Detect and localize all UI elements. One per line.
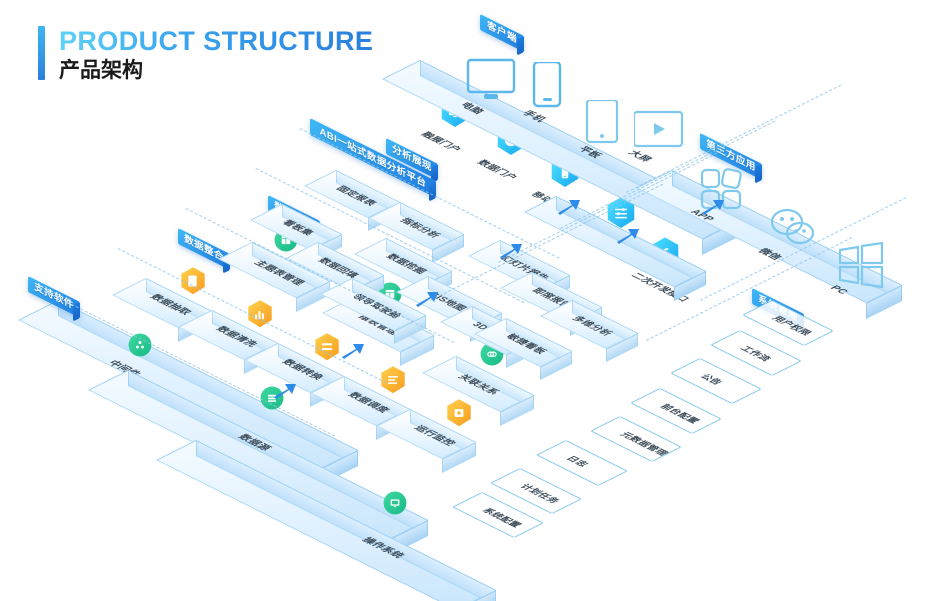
badge-data-integration-text: 数据整合 (178, 228, 230, 270)
label-融展门户: 融展门户 (418, 130, 465, 154)
monitor-run-icon[interactable] (444, 398, 474, 428)
flow-arrow-icon (556, 196, 582, 223)
tablet-icon[interactable] (584, 100, 624, 151)
badge-client-text: 客户端 (480, 14, 524, 52)
os-icon[interactable] (382, 490, 408, 516)
label-数据门户: 数据门户 (474, 158, 521, 182)
flow-arrow-icon (272, 380, 298, 407)
bigscreen-icon[interactable] (634, 108, 684, 155)
middleware-icon[interactable] (127, 332, 153, 358)
monitor-icon[interactable] (466, 58, 516, 107)
flow-arrow-icon (700, 196, 726, 223)
flow-arrow-icon (615, 225, 641, 252)
phone-icon[interactable] (528, 62, 568, 115)
flow-arrow-icon (340, 340, 366, 367)
flow-arrow-icon (498, 240, 524, 267)
product-structure-diagram: PRODUCT STRUCTURE 产品架构 中间件支持软件数据源操作系统数据整… (0, 0, 935, 601)
flow-arrow-icon (414, 288, 440, 315)
isometric-canvas: 中间件支持软件数据源操作系统数据整合数据抽取数据清洗数据转换数据调度运行监控数据… (0, 0, 935, 601)
wechat-icon[interactable] (770, 206, 818, 255)
